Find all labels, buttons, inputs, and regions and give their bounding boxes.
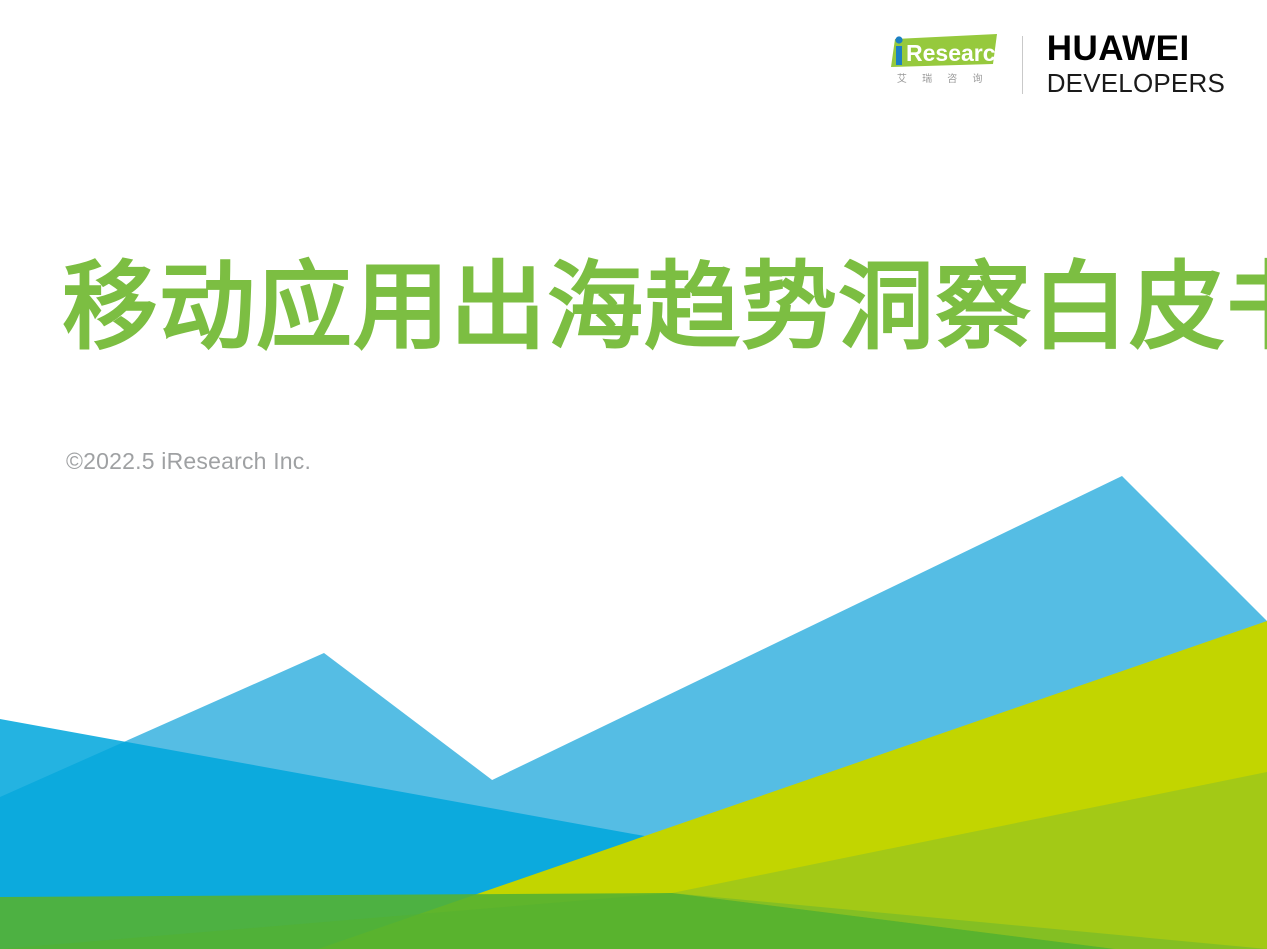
huawei-developers-logo: HUAWEI DEVELOPERS <box>1047 31 1225 99</box>
green-overlay-shape <box>0 893 1115 949</box>
yellow-green-band-shape <box>318 621 1267 949</box>
iresearch-i-dot <box>895 36 902 43</box>
iresearch-wordmark: Research <box>881 34 999 72</box>
blue-left-peak-shape <box>0 653 716 949</box>
deep-blue-band-shape <box>0 719 1267 949</box>
iresearch-chinese-name: 艾 瑞 咨 询 <box>891 75 989 85</box>
iresearch-logo: Research 艾 瑞 咨 询 <box>880 34 1000 96</box>
copyright-notice: ©2022.5 iResearch Inc. <box>66 448 311 475</box>
olive-accent-shape <box>672 772 1267 949</box>
logo-divider <box>1022 36 1023 94</box>
green-left-wedge-shape <box>0 893 1267 949</box>
huawei-brand-text: HUAWEI <box>1047 31 1190 68</box>
page-title: 移动应用出海趋势洞察白皮书 <box>62 255 1267 361</box>
slide-canvas: Research 艾 瑞 咨 询 HUAWEI DEVELOPERS 移动应用出… <box>0 0 1267 949</box>
blue-rising-band-shape <box>318 476 1267 949</box>
iresearch-i-stem <box>896 46 902 65</box>
iresearch-research-text: Research <box>906 40 999 66</box>
logo-bar: Research 艾 瑞 咨 询 HUAWEI DEVELOPERS <box>880 30 1225 100</box>
huawei-developers-text: DEVELOPERS <box>1047 69 1225 99</box>
